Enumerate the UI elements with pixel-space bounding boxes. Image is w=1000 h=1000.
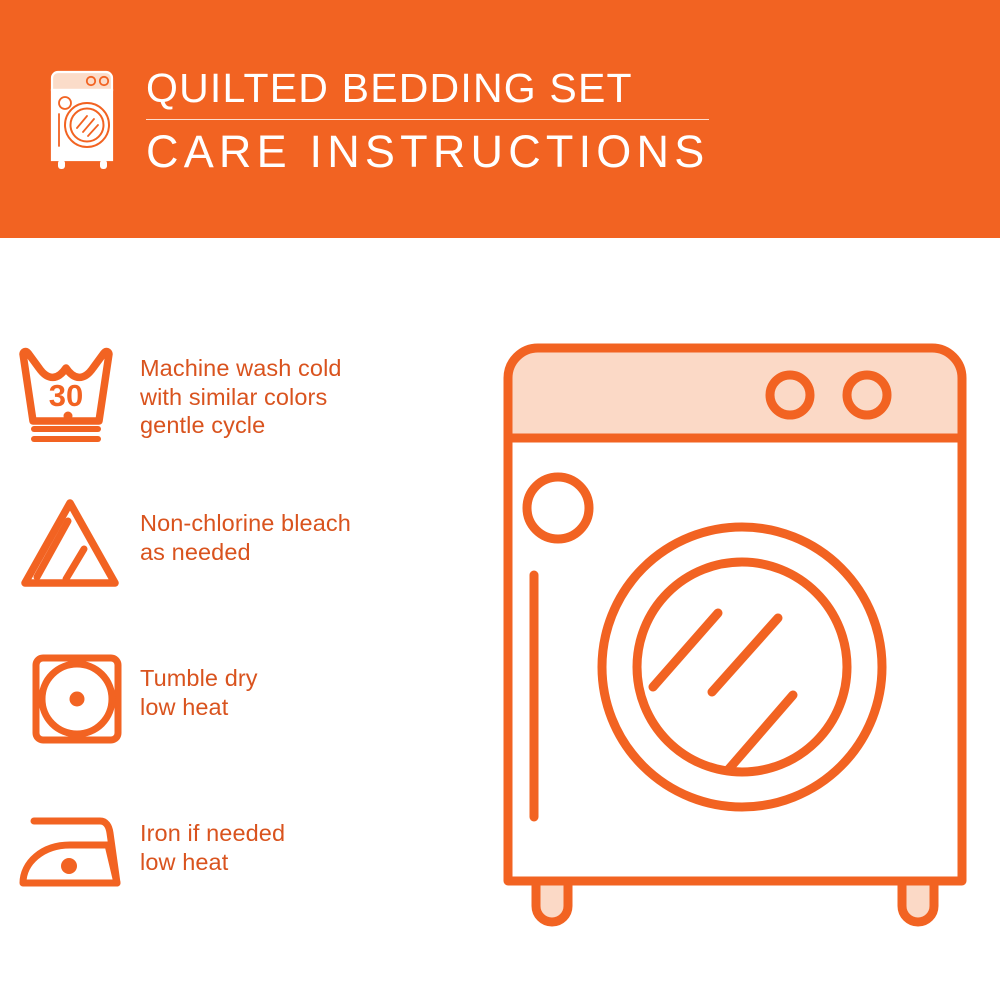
care-line: Non-chlorine bleach: [140, 509, 351, 538]
care-line: with similar colors: [140, 383, 342, 412]
care-instructions-infographic: QUILTED BEDDING SET CARE INSTRUCTIONS 30: [0, 0, 1000, 1000]
door-outer-ring: [602, 527, 882, 807]
care-line: as needed: [140, 538, 351, 567]
care-instruction-list: 30 Machine wash cold with similar colors…: [0, 330, 480, 950]
care-line: Tumble dry: [140, 664, 258, 693]
detergent-port: [527, 477, 589, 539]
header-banner: QUILTED BEDDING SET CARE INSTRUCTIONS: [0, 0, 1000, 238]
care-row-tumble-dry: Tumble dry low heat: [0, 640, 480, 795]
care-line: gentle cycle: [140, 411, 342, 440]
care-text-iron: Iron if needed low heat: [140, 795, 285, 876]
page-title: QUILTED BEDDING SET: [146, 66, 709, 110]
header-content: QUILTED BEDDING SET CARE INSTRUCTIONS: [44, 66, 709, 176]
tumble-dry-low-heat-icon: [0, 640, 140, 754]
title-divider: [146, 119, 709, 120]
washing-machine-icon: [44, 66, 122, 171]
care-row-bleach: Non-chlorine bleach as needed: [0, 485, 480, 640]
care-text-tumble-dry: Tumble dry low heat: [140, 640, 258, 721]
care-row-iron: Iron if needed low heat: [0, 795, 480, 950]
wash-tub-30-gentle-icon: 30: [0, 330, 140, 444]
header-title-block: QUILTED BEDDING SET CARE INSTRUCTIONS: [146, 66, 709, 176]
care-text-bleach: Non-chlorine bleach as needed: [140, 485, 351, 566]
care-line: low heat: [140, 848, 285, 877]
care-line: low heat: [140, 693, 258, 722]
leg-right: [902, 881, 934, 922]
iron-low-heat-icon: [0, 795, 140, 909]
care-text-machine-wash: Machine wash cold with similar colors ge…: [140, 330, 342, 440]
care-row-machine-wash: 30 Machine wash cold with similar colors…: [0, 330, 480, 485]
control-panel-fill: [508, 348, 962, 435]
care-line: Machine wash cold: [140, 354, 342, 383]
non-chlorine-bleach-triangle-icon: [0, 485, 140, 599]
wash-temperature-value: 30: [49, 378, 83, 413]
washing-machine-illustration: [490, 330, 980, 940]
leg-left: [536, 881, 568, 922]
page-subtitle: CARE INSTRUCTIONS: [146, 128, 709, 176]
care-line: Iron if needed: [140, 819, 285, 848]
